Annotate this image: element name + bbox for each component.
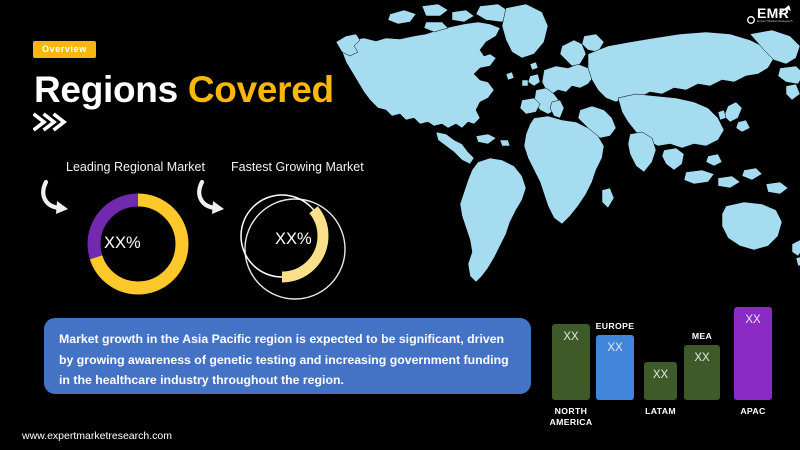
triple-chevron-right-icon	[33, 112, 93, 132]
page-title-accent: Covered	[188, 69, 334, 110]
regional-bar-chart: XXNORTH AMERICAXXEUROPEXXLATAMXXMEAXXAPA…	[548, 275, 800, 430]
bar-category-3: MEA	[675, 331, 729, 342]
world-map	[330, 0, 800, 294]
insight-callout-text: Market growth in the Asia Pacific region…	[59, 329, 515, 391]
bar-category-0: NORTH AMERICA	[543, 406, 599, 428]
donut-1-value: XX%	[104, 234, 141, 253]
bar-value-1: XX	[596, 342, 634, 354]
logo-tagline: Expert Market Research	[757, 19, 793, 23]
bar-value-4: XX	[734, 314, 772, 326]
insight-callout: Market growth in the Asia Pacific region…	[44, 318, 531, 394]
donut-2-value: XX%	[275, 230, 312, 249]
donut-1-title: Leading Regional Market	[66, 160, 205, 174]
page-title-primary: Regions	[34, 69, 178, 110]
donut-2-outer-ring	[245, 199, 345, 299]
bar-value-3: XX	[684, 352, 720, 364]
curved-arrow-icon	[40, 174, 86, 220]
bar-2	[644, 362, 677, 400]
bar-category-1: EUROPE	[587, 321, 643, 332]
bar-value-2: XX	[644, 369, 677, 381]
bar-value-0: XX	[552, 331, 590, 343]
bar-category-2: LATAM	[635, 406, 686, 417]
overview-badge: Overview	[33, 41, 96, 58]
slide-canvas: EMR Expert Market Research Overview Regi…	[0, 0, 800, 450]
footer-url: www.expertmarketresearch.com	[22, 430, 172, 442]
donut-2-title: Fastest Growing Market	[231, 160, 364, 174]
bar-category-4: APAC	[725, 406, 781, 417]
page-title: Regions Covered	[34, 68, 334, 112]
